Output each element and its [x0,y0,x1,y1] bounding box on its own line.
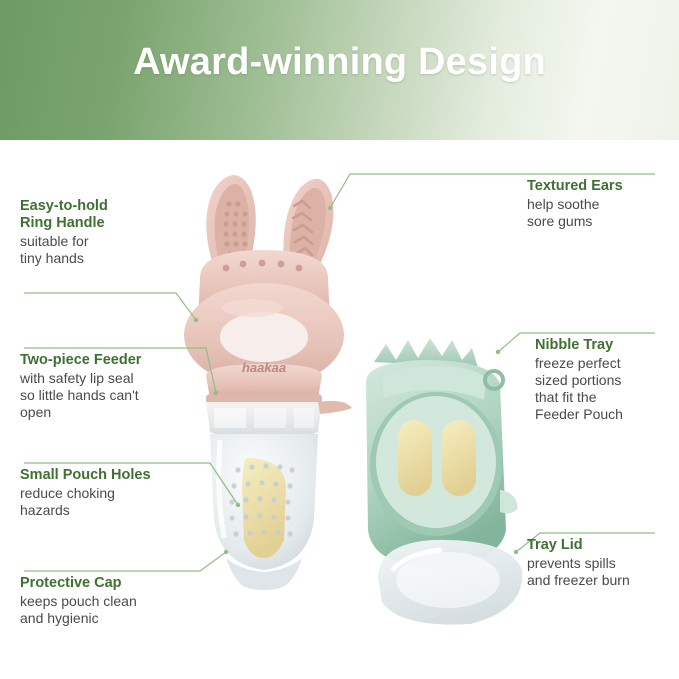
callout-protective-cap: Protective Cap keeps pouch clean and hyg… [20,575,210,627]
header-banner: Award-winning Design [0,0,679,140]
callout-body: prevents spills and freezer burn [527,555,672,589]
callout-title: Nibble Tray [535,337,670,354]
callout-tray-lid: Tray Lid prevents spills and freezer bur… [527,537,672,589]
feeder-pouch [210,434,318,590]
callout-body: freeze perfect sized portions that fit t… [535,355,670,423]
callout-body: with safety lip seal so little hands can… [20,370,220,421]
callout-title: Protective Cap [20,575,210,592]
callout-title: Textured Ears [527,178,667,195]
product-infographic: Award-winning Design [0,0,679,679]
page-title: Award-winning Design [0,41,679,84]
callout-title: Two-piece Feeder [20,352,220,369]
callout-title: Tray Lid [527,537,672,554]
callout-two-piece-feeder: Two-piece Feeder with safety lip seal so… [20,352,220,421]
callout-body: reduce choking hazards [20,485,215,519]
tray-lid-graphic [378,540,522,625]
callout-title: Small Pouch Holes [20,467,215,484]
callout-small-pouch-holes: Small Pouch Holes reduce choking hazards [20,467,215,519]
callout-title: Easy-to-hold Ring Handle [20,198,200,232]
callout-body: keeps pouch clean and hygienic [20,593,210,627]
callout-ring-handle: Easy-to-hold Ring Handle suitable for ti… [20,198,200,267]
callout-body: suitable for tiny hands [20,233,200,267]
brand-logo: haakaa [242,360,286,375]
nibble-tray [366,338,522,625]
callout-textured-ears: Textured Ears help soothe sore gums [527,178,667,230]
callout-nibble-tray: Nibble Tray freeze perfect sized portion… [535,337,670,423]
callout-body: help soothe sore gums [527,196,667,230]
